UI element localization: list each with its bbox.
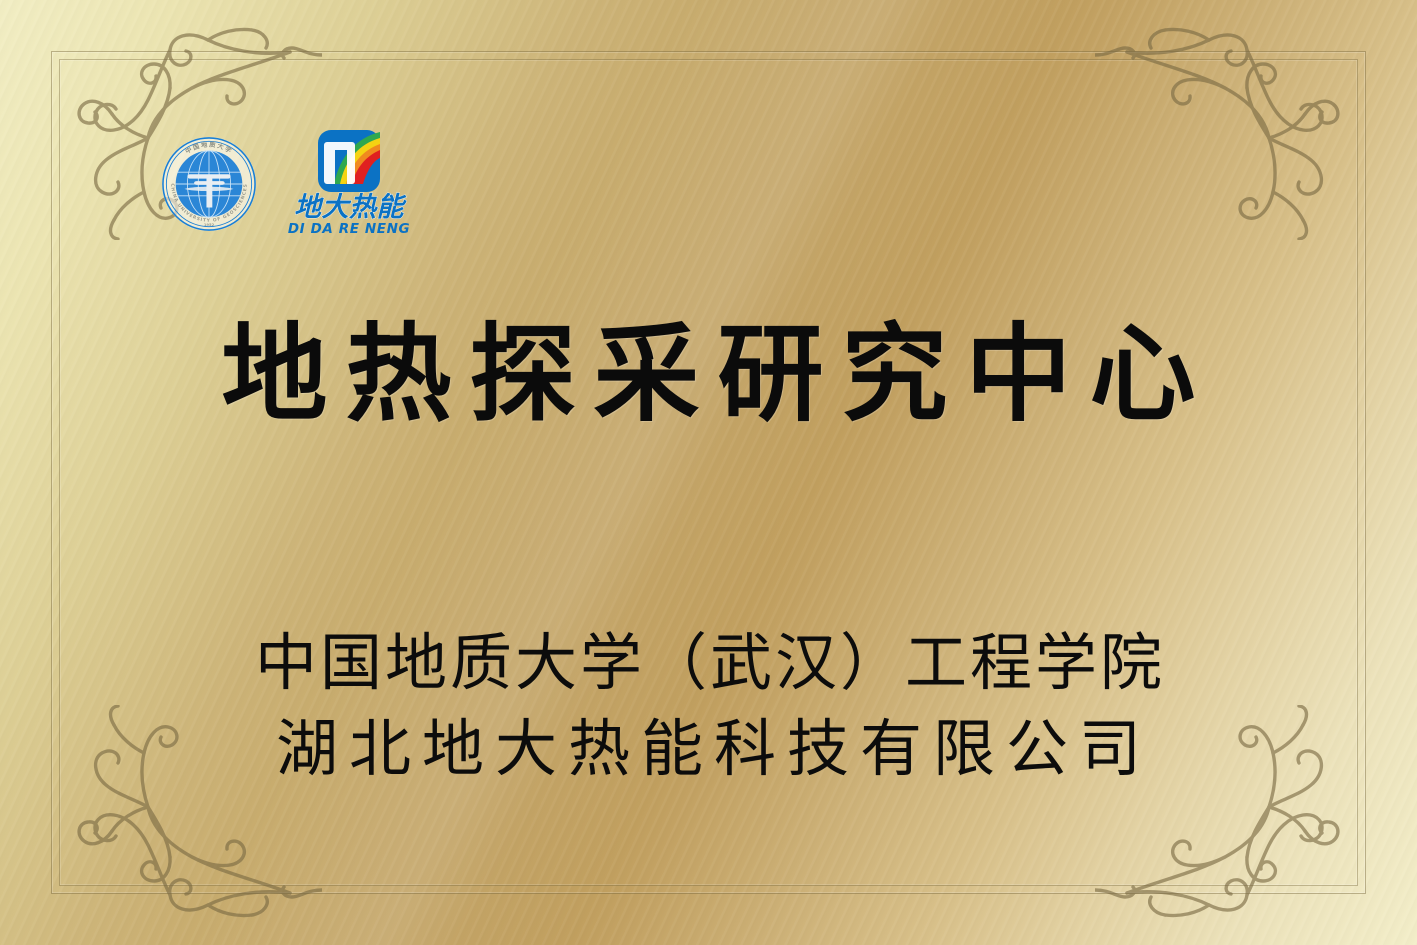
company-pinyin-wordmark: DI DA RE NENG xyxy=(288,221,410,237)
logo-group: 中国地质大学 CHINA UNIVERSITY OF GEOSCIENCES 1… xyxy=(160,130,414,238)
award-plaque: 中国地质大学 CHINA UNIVERSITY OF GEOSCIENCES 1… xyxy=(0,0,1417,945)
seal-founding-year: 1952 xyxy=(204,223,215,227)
company-logo: 地大热能 DI DA RE NENG xyxy=(284,130,414,238)
plaque-subtitle: 中国地质大学（武汉）工程学院 湖北地大热能科技有限公司 xyxy=(0,620,1417,792)
subtitle-line-university: 中国地质大学（武汉）工程学院 xyxy=(0,620,1417,706)
plaque-title: 地热探采研究中心 xyxy=(0,322,1417,428)
university-seal-logo: 中国地质大学 CHINA UNIVERSITY OF GEOSCIENCES 1… xyxy=(160,135,258,233)
corner-ornament-top-right-icon xyxy=(1095,10,1395,240)
company-chinese-wordmark: 地大热能 xyxy=(294,192,407,223)
subtitle-line-company: 湖北地大热能科技有限公司 xyxy=(0,706,1417,792)
company-icon-mark xyxy=(318,130,380,192)
